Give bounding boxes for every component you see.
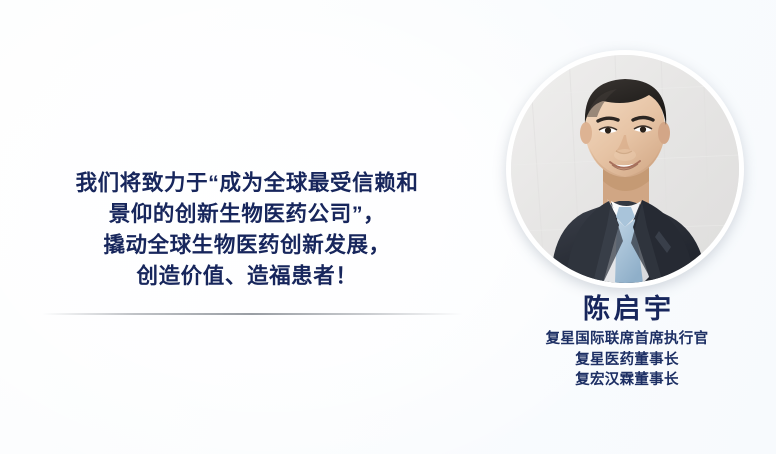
person-titles-list: 复星国际联席首席执行官 复星医药董事长 复宏汉霖董事长 [494,329,760,391]
person-info-block: 陈启宇 复星国际联席首席执行官 复星医药董事长 复宏汉霖董事长 [494,292,760,391]
portrait-avatar [506,50,744,288]
portrait-photo [511,55,739,283]
quote-line-2: 景仰的创新生物医药公司”， [0,199,494,230]
person-title-3: 复宏汉霖董事长 [494,370,760,391]
person-title-2: 复星医药董事长 [494,350,760,371]
person-name: 陈启宇 [494,292,760,326]
quote-line-4: 创造价值、造福患者！ [0,261,494,292]
person-title-1: 复星国际联席首席执行官 [494,329,760,350]
executive-quote-banner: 我们将致力于“成为全球最受信赖和 景仰的创新生物医药公司”， 撬动全球生物医药创… [0,0,776,454]
quote-line-3: 撬动全球生物医药创新发展， [0,230,494,261]
quote-text-block: 我们将致力于“成为全球最受信赖和 景仰的创新生物医药公司”， 撬动全球生物医药创… [0,168,494,292]
quote-line-1: 我们将致力于“成为全球最受信赖和 [0,168,494,199]
quote-divider-line [42,313,462,315]
